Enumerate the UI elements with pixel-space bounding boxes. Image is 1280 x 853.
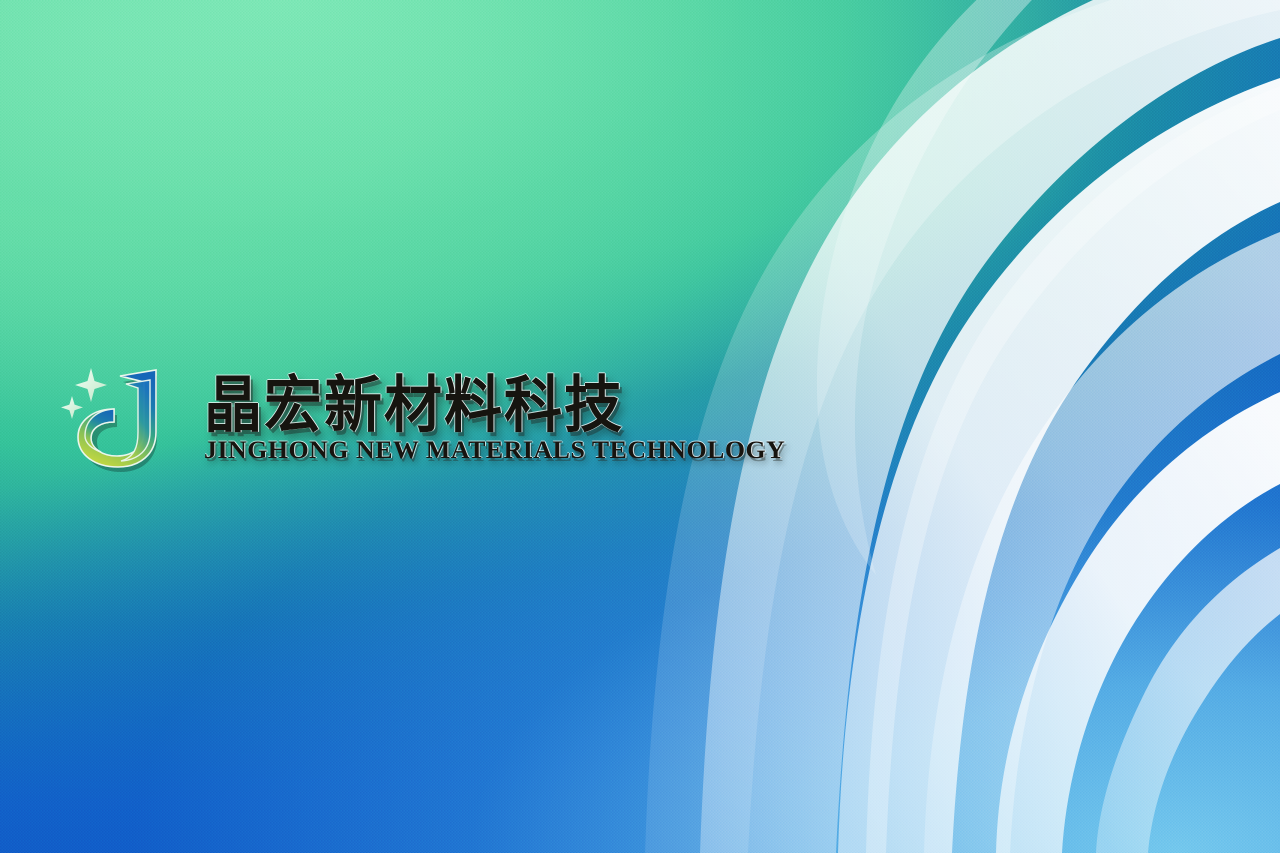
sparkle-large-icon (75, 368, 107, 402)
brand-logo-lockup: 晶宏新材料科技 JINGHONG NEW MATERIALS TECHNOLOG… (58, 362, 766, 474)
logo-j-stem (121, 380, 150, 461)
brand-name-chinese: 晶宏新材料科技 (204, 373, 766, 437)
brand-backdrop-canvas: 晶宏新材料科技 JINGHONG NEW MATERIALS TECHNOLOG… (0, 0, 1280, 853)
brand-name-english: JINGHONG NEW MATERIALS TECHNOLOGY (204, 437, 785, 464)
brand-wordmark: 晶宏新材料科技 JINGHONG NEW MATERIALS TECHNOLOG… (204, 373, 766, 464)
stylized-letter-j-with-sparkles-icon (58, 362, 190, 474)
sparkle-small-icon (61, 396, 83, 419)
